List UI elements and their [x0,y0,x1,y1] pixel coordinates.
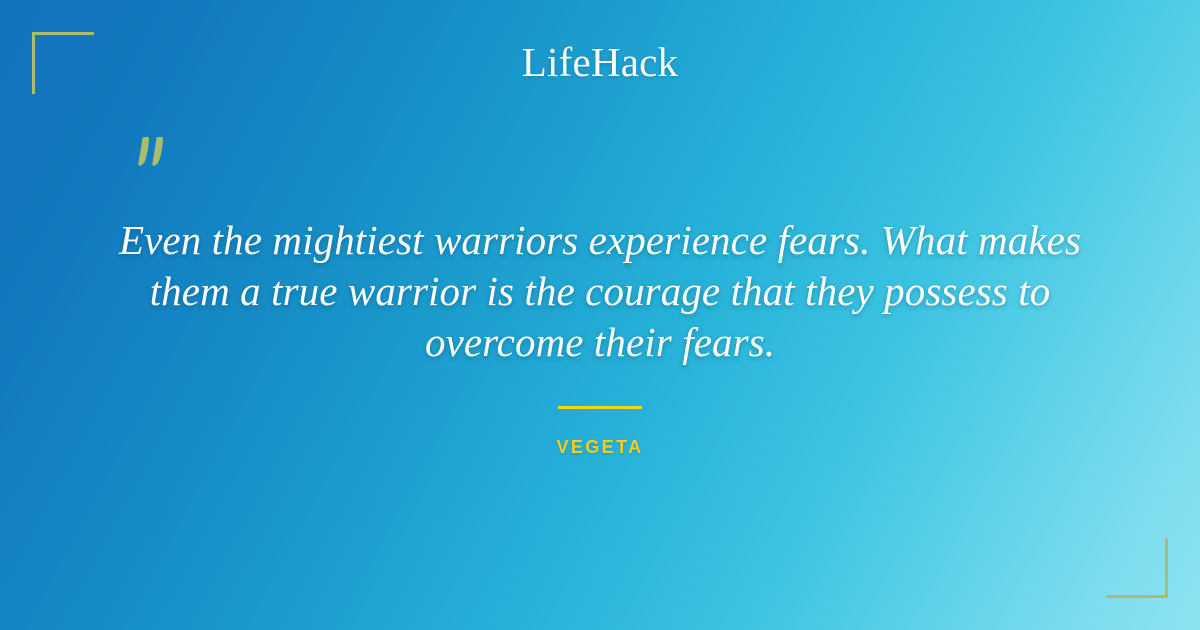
quote-line: overcome their fears. [100,317,1100,368]
brand-logo: LifeHack [0,40,1200,84]
bracket-right-line [1165,538,1168,598]
attribution: VEGETA [0,406,1200,458]
bracket-top-line [32,32,94,35]
quote-card: LifeHack Even the mightiest warriors exp… [0,0,1200,630]
attribution-divider [558,406,642,409]
attribution-author-name: VEGETA [0,437,1200,458]
corner-bracket-bottom-right-icon [1106,538,1168,598]
bracket-bottom-line [1106,595,1168,598]
quote-line: them a true warrior is the courage that … [100,266,1100,317]
double-quote-icon [128,132,188,192]
quote-line: Even the mightiest warriors experience f… [100,215,1100,266]
quote-text: Even the mightiest warriors experience f… [100,215,1100,368]
